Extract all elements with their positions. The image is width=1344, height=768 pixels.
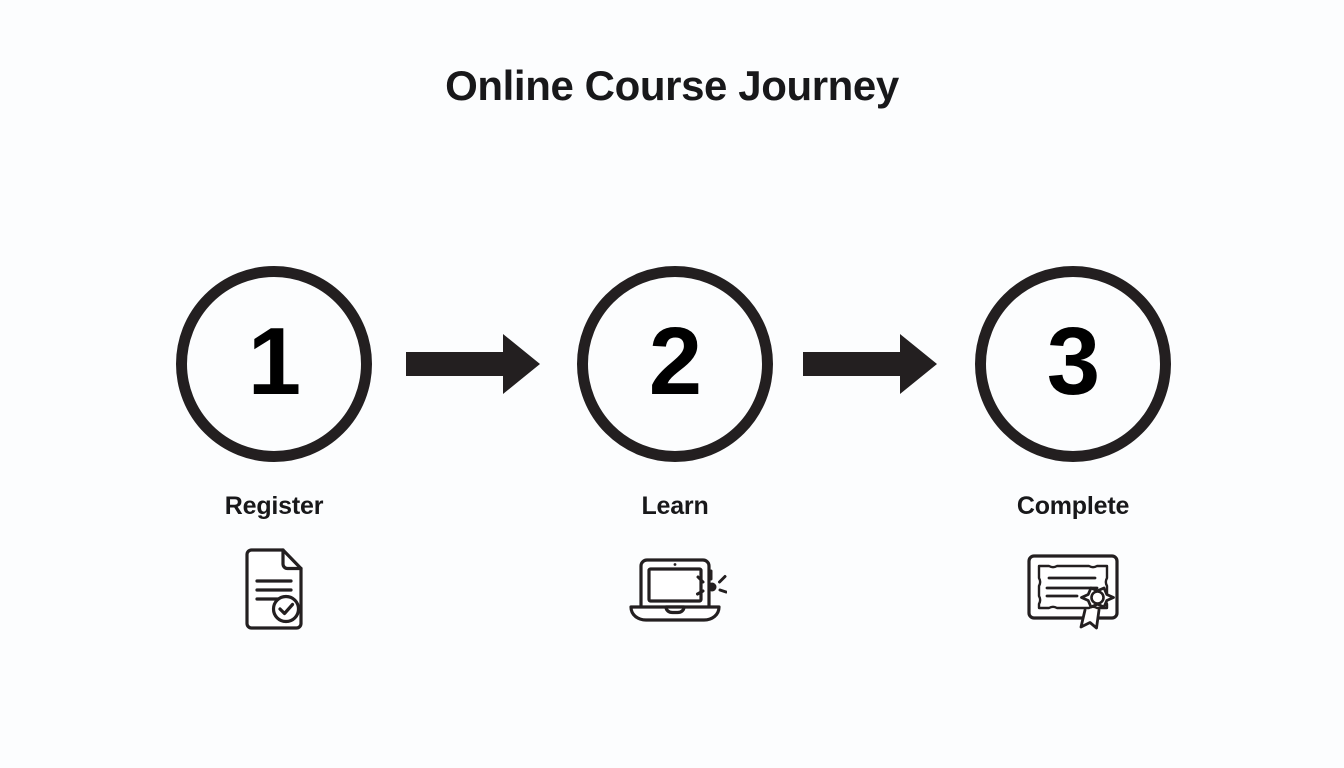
step-2-learn[interactable]: 2 Learn <box>575 266 775 631</box>
step-1-number: 1 <box>187 277 361 451</box>
step-1-circle: 1 <box>176 266 372 462</box>
step-2-label: Learn <box>575 492 775 521</box>
diagram-canvas: Online Course Journey 1 Register <box>0 0 1344 768</box>
certificate-award-icon <box>973 547 1173 631</box>
step-3-number: 3 <box>986 277 1160 451</box>
arrow-step-2-to-3 <box>800 331 940 397</box>
step-1-register[interactable]: 1 Register <box>174 266 374 631</box>
arrow-step-1-to-2 <box>403 331 543 397</box>
step-1-label: Register <box>174 492 374 521</box>
laptop-with-click-icon <box>575 547 775 631</box>
process-flow-steps: 1 Register <box>0 0 1344 768</box>
step-3-label: Complete <box>973 492 1173 521</box>
step-2-circle: 2 <box>577 266 773 462</box>
document-with-check-icon <box>174 547 374 631</box>
step-3-circle: 3 <box>975 266 1171 462</box>
step-3-complete[interactable]: 3 Complete <box>973 266 1173 631</box>
step-2-number: 2 <box>588 277 762 451</box>
